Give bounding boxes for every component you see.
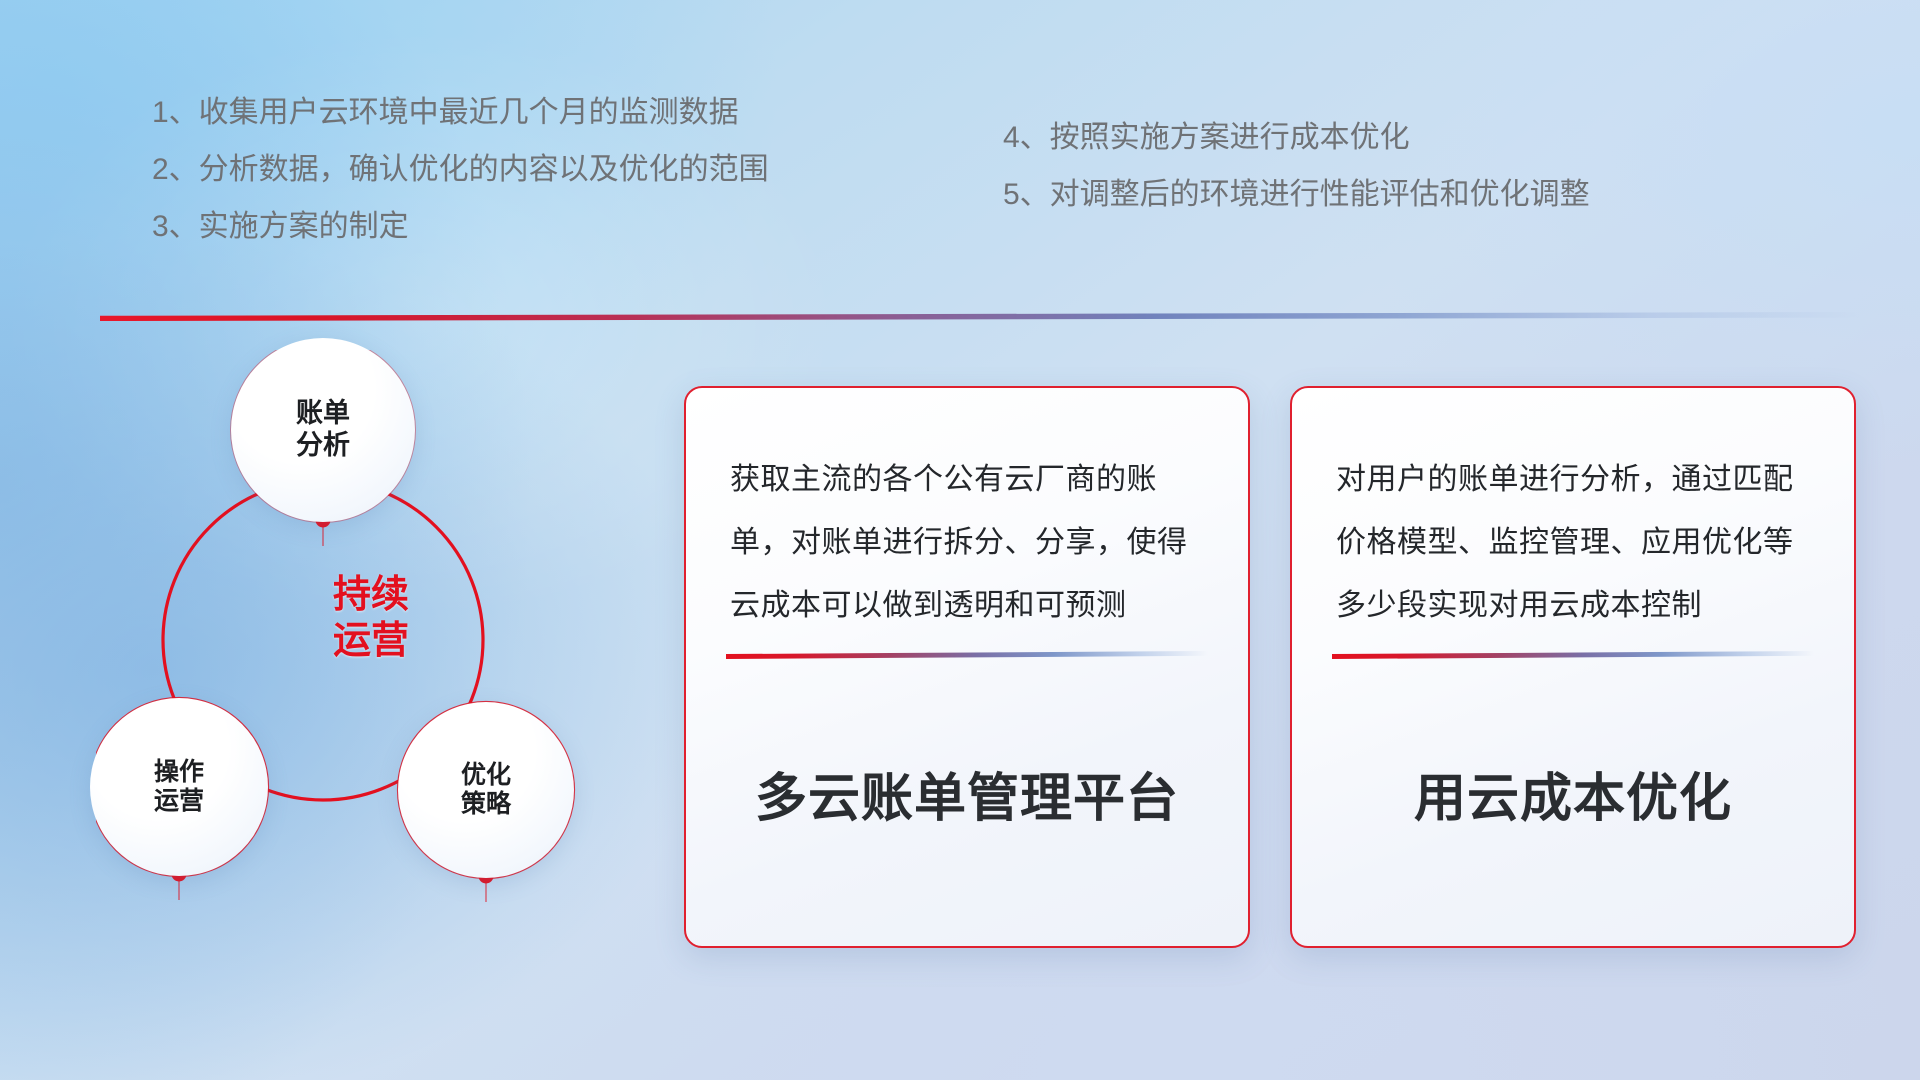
venn-bubble-bill-analysis-line1: 账单 — [296, 398, 350, 430]
card-cloud-cost-optimization[interactable]: 对用户的账单进行分析，通过匹配价格模型、监控管理、应用优化等多少段实现对用云成本… — [1290, 386, 1856, 948]
venn-bubble-optimization-strategy-line2: 策略 — [461, 790, 511, 820]
continuous-operations-diagram: 账单 分析 操作 运营 优化 策略 持续 运营 — [96, 350, 656, 950]
venn-bubble-optimization-strategy-line1: 优化 — [461, 761, 511, 791]
venn-bubble-bill-analysis-line2: 分析 — [296, 430, 350, 462]
step-item-1: 1、收集用户云环境中最近几个月的监测数据 — [152, 98, 769, 128]
step-item-4: 4、按照实施方案进行成本优化 — [1003, 123, 1590, 153]
card-multi-cloud-billing-platform[interactable]: 获取主流的各个公有云厂商的账单，对账单进行拆分、分享，使得云成本可以做到透明和可… — [684, 386, 1250, 948]
step-item-5: 5、对调整后的环境进行性能评估和优化调整 — [1003, 180, 1590, 210]
card-2-title: 用云成本优化 — [1292, 659, 1854, 946]
venn-center-label: 持续 运营 — [256, 572, 486, 665]
venn-center-line2: 运营 — [256, 618, 486, 664]
slide-canvas: 1、收集用户云环境中最近几个月的监测数据 2、分析数据，确认优化的内容以及优化的… — [0, 0, 1920, 1080]
venn-bubble-operations[interactable]: 操作 运营 — [90, 698, 268, 876]
venn-bubble-operations-line1: 操作 — [154, 758, 204, 788]
card-2-body-text: 对用户的账单进行分析，通过匹配价格模型、监控管理、应用优化等多少段实现对用云成本… — [1292, 388, 1854, 637]
card-1-title: 多云账单管理平台 — [686, 659, 1248, 946]
venn-center-line1: 持续 — [256, 572, 486, 618]
steps-list-left: 1、收集用户云环境中最近几个月的监测数据 2、分析数据，确认优化的内容以及优化的… — [152, 98, 769, 269]
step-item-3: 3、实施方案的制定 — [152, 212, 769, 242]
step-item-2: 2、分析数据，确认优化的内容以及优化的范围 — [152, 155, 769, 185]
card-2-divider — [1332, 651, 1814, 659]
card-1-divider — [726, 651, 1208, 659]
venn-bubble-optimization-strategy[interactable]: 优化 策略 — [398, 702, 574, 878]
steps-list-right: 4、按照实施方案进行成本优化 5、对调整后的环境进行性能评估和优化调整 — [1003, 123, 1590, 237]
section-divider — [100, 312, 1860, 321]
card-1-body-text: 获取主流的各个公有云厂商的账单，对账单进行拆分、分享，使得云成本可以做到透明和可… — [686, 388, 1248, 637]
venn-bubble-operations-line2: 运营 — [154, 787, 204, 817]
venn-bubble-bill-analysis[interactable]: 账单 分析 — [231, 338, 415, 522]
